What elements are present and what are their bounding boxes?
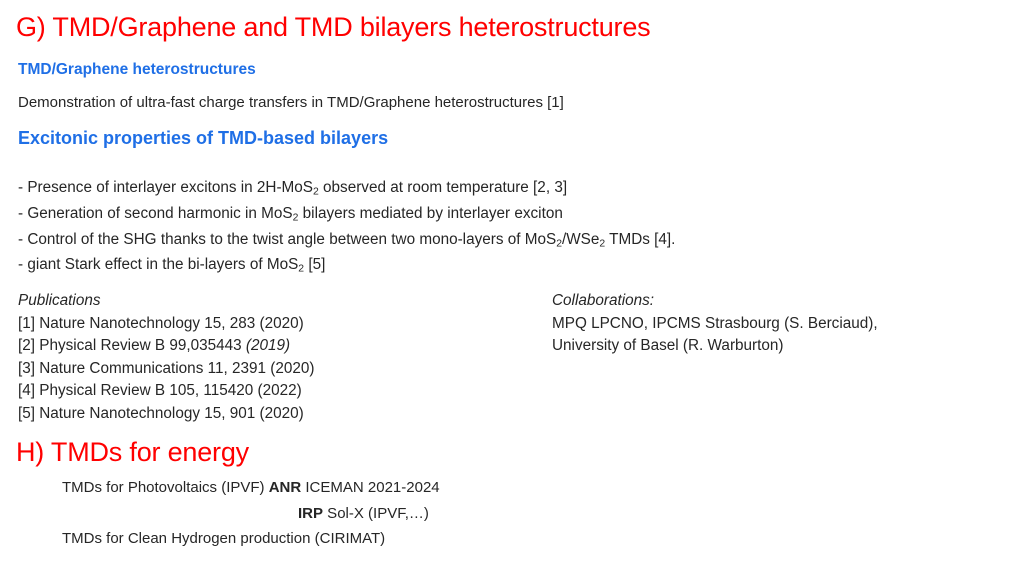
bullet-item: - Generation of second harmonic in MoS2 … [18, 203, 675, 229]
subheading-excitonic-properties: Excitonic properties of TMD-based bilaye… [18, 128, 388, 149]
collaborations-block: Collaborations: MPQ LPCNO, IPCMS Strasbo… [552, 290, 878, 358]
collaboration-item: University of Basel (R. Warburton) [552, 335, 878, 358]
bullet-text-1: - Presence of interlayer excitons in 2H-… [18, 179, 567, 196]
publication-item: [3] Nature Communications 11, 2391 (2020… [18, 358, 314, 381]
bullet-item: - giant Stark effect in the bi-layers of… [18, 254, 675, 280]
section-title-g: G) TMD/Graphene and TMD bilayers heteros… [16, 12, 650, 43]
energy-line-hydrogen: TMDs for Clean Hydrogen production (CIRI… [62, 530, 385, 547]
collaboration-item: MPQ LPCNO, IPCMS Strasbourg (S. Berciaud… [552, 313, 878, 336]
section-title-h: H) TMDs for energy [16, 437, 249, 468]
collaborations-heading: Collaborations: [552, 290, 878, 313]
publications-heading: Publications [18, 290, 314, 313]
energy-line-irp-solx: IRP Sol-X (IPVF,…) [298, 505, 429, 522]
bullet-item: - Control of the SHG thanks to the twist… [18, 229, 675, 255]
subheading-tmd-graphene: TMD/Graphene heterostructures [18, 61, 256, 79]
bullet-text-4: - giant Stark effect in the bi-layers of… [18, 256, 325, 273]
bullet-list-excitonic: - Presence of interlayer excitons in 2H-… [18, 177, 675, 280]
publication-item: [5] Nature Nanotechnology 15, 901 (2020) [18, 403, 314, 426]
paragraph-demonstration: Demonstration of ultra-fast charge trans… [18, 95, 564, 110]
publication-item: [1] Nature Nanotechnology 15, 283 (2020) [18, 313, 314, 336]
energy-line-photovoltaics: TMDs for Photovoltaics (IPVF) ANR ICEMAN… [62, 479, 440, 496]
bullet-item: - Presence of interlayer excitons in 2H-… [18, 177, 675, 203]
bullet-text-2: - Generation of second harmonic in MoS2 … [18, 205, 563, 222]
publications-block: Publications [1] Nature Nanotechnology 1… [18, 290, 314, 425]
bullet-text-3: - Control of the SHG thanks to the twist… [18, 231, 675, 248]
publication-item: [2] Physical Review B 99,035443 (2019) [18, 335, 314, 358]
publication-item: [4] Physical Review B 105, 115420 (2022) [18, 380, 314, 403]
slide-canvas: G) TMD/Graphene and TMD bilayers heteros… [0, 0, 1024, 576]
